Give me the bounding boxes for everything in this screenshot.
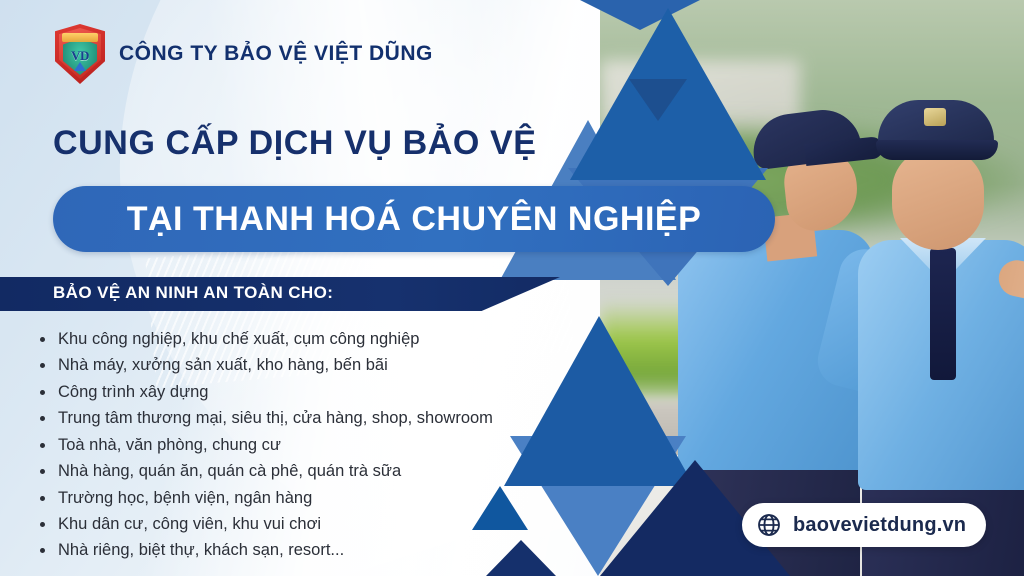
globe-icon — [756, 512, 782, 538]
guard-right-cap-badge — [924, 108, 946, 126]
subheader-label: BẢO VỆ AN NINH AN TOÀN CHO: — [53, 283, 333, 303]
headline-secondary: TẠI THANH HOÁ CHUYÊN NGHIỆP — [127, 200, 702, 239]
promo-banner: VD CÔNG TY BẢO VỆ VIỆT DŨNG CUNG CẤP DỊC… — [0, 0, 1024, 576]
service-list-item: Trường học, bệnh viện, ngân hàng — [40, 487, 510, 510]
company-name: CÔNG TY BẢO VỆ VIỆT DŨNG — [119, 42, 433, 66]
service-list-item: Trung tâm thương mại, siêu thị, cửa hàng… — [40, 407, 510, 430]
service-list-item: Toà nhà, văn phòng, chung cư — [40, 434, 510, 457]
shield-star-icon — [74, 62, 86, 71]
website-url: baovevietdung.vn — [793, 514, 966, 537]
service-list-item: Nhà riêng, biệt thự, khách sạn, resort..… — [40, 539, 510, 562]
website-badge[interactable]: baovevietdung.vn — [742, 503, 986, 547]
service-list: Khu công nghiệp, khu chế xuất, cụm công … — [40, 328, 510, 566]
brand-lockup: VD CÔNG TY BẢO VỆ VIỆT DŨNG — [55, 24, 433, 84]
service-list-item: Khu công nghiệp, khu chế xuất, cụm công … — [40, 328, 510, 351]
service-list-item: Khu dân cư, công viên, khu vui chơi — [40, 513, 510, 536]
headline-primary: CUNG CẤP DỊCH VỤ BẢO VỆ — [53, 124, 537, 163]
guard-right-necktie — [930, 248, 956, 380]
service-list-item: Công trình xây dựng — [40, 381, 510, 404]
headline-pill: TẠI THANH HOÁ CHUYÊN NGHIỆP — [53, 186, 775, 252]
service-list-item: Nhà hàng, quán ăn, quán cà phê, quán trà… — [40, 460, 510, 483]
service-list-item: Nhà máy, xưởng sản xuất, kho hàng, bến b… — [40, 354, 510, 377]
shield-logo-icon: VD — [55, 24, 105, 84]
shield-top-band — [62, 33, 98, 42]
guard-right-face — [892, 148, 984, 250]
guard-right-cap-brim — [876, 140, 998, 160]
